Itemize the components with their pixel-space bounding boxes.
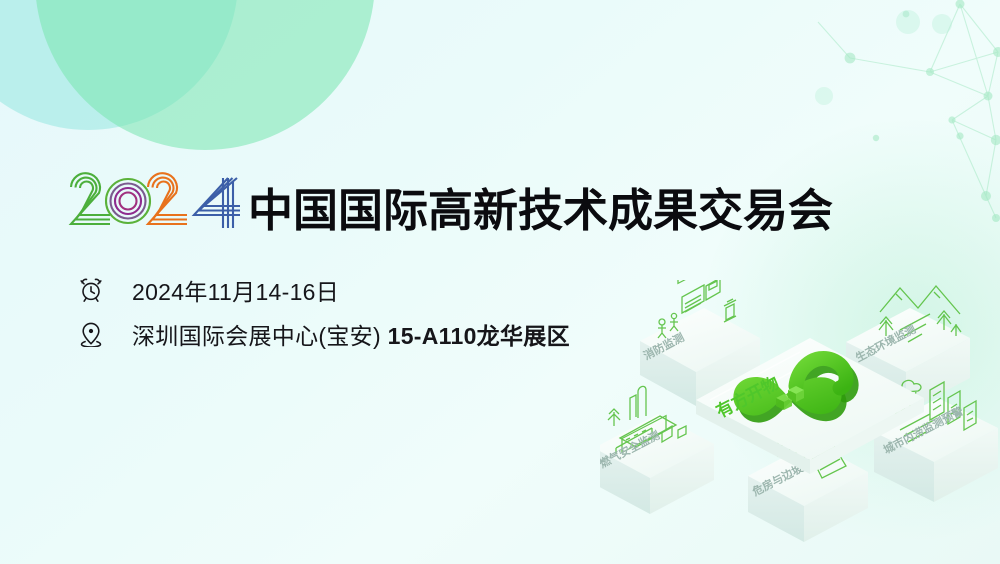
decorative-circle-cyan (0, 0, 238, 130)
event-info: 2024年11月14-16日 深圳国际会展中心(宝安) 15-A110龙华展区 (76, 268, 570, 356)
platforms-scene: 消防监测 (600, 280, 1000, 564)
decorative-circle-green (35, 0, 375, 150)
headline: 2024 (68, 168, 833, 234)
event-date-text: 2024年11月14-16日 (132, 273, 339, 307)
page-title: 中国国际高新技术成果交易会 (248, 188, 833, 233)
event-date-row: 2024年11月14-16日 (76, 268, 570, 312)
isometric-illustration: 消防监测 (600, 280, 1000, 564)
booth-number: 15-A110龙华展区 (388, 323, 570, 349)
alarm-clock-icon (76, 275, 106, 305)
year-logo-2024: 2024 (68, 168, 244, 234)
event-location-row: 深圳国际会展中心(宝安) 15-A110龙华展区 (76, 312, 570, 356)
venue-name: 深圳国际会展中心(宝安) (132, 323, 381, 349)
location-pin-icon (76, 319, 106, 349)
promo-banner: 2024 (0, 0, 1000, 564)
network-constellation-graphic (810, 0, 1000, 230)
event-location-text: 深圳国际会展中心(宝安) 15-A110龙华展区 (132, 317, 570, 351)
